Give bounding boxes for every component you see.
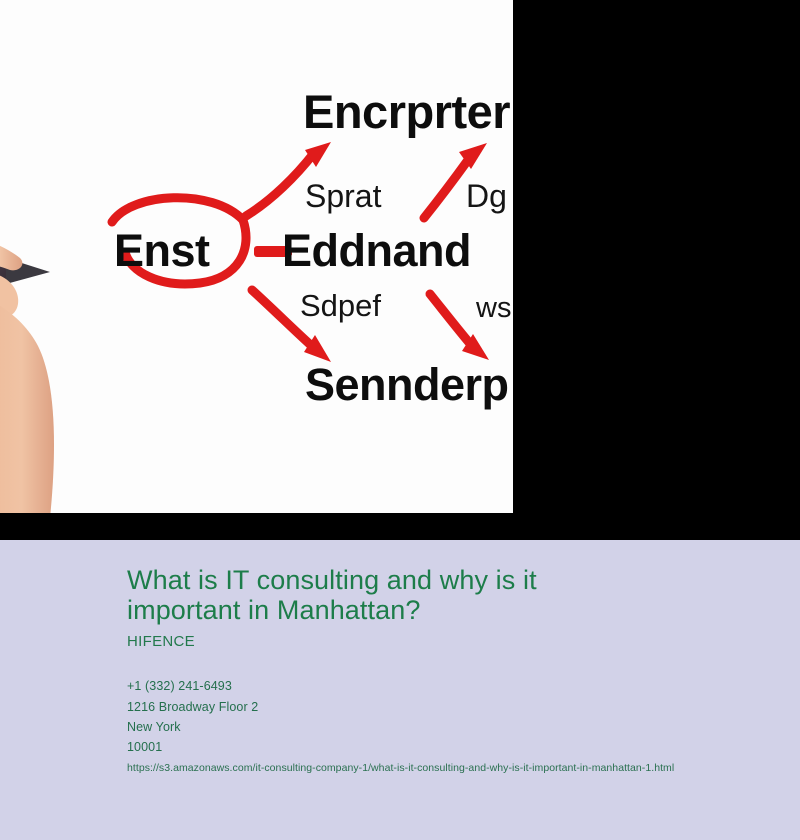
diagram-center-right-word: Eddnand bbox=[282, 228, 471, 273]
index-finger bbox=[0, 234, 22, 270]
contact-block: +1 (332) 241-6493 1216 Broadway Floor 2 … bbox=[127, 676, 800, 774]
hand-with-marker-icon bbox=[0, 228, 104, 513]
diagram-small-word-3: Sdpef bbox=[300, 290, 381, 321]
source-url-link[interactable]: https://s3.amazonaws.com/it-consulting-c… bbox=[127, 762, 800, 774]
brand-label: HIFENCE bbox=[127, 633, 800, 650]
diagram-heading-word: Encrprterni bbox=[303, 88, 513, 135]
article-info-panel: What is IT consulting and why is it impo… bbox=[0, 540, 800, 840]
contact-postal-code: 10001 bbox=[127, 737, 800, 757]
diagram-bottom-word: Sennderp bbox=[305, 362, 509, 407]
contact-phone[interactable]: +1 (332) 241-6493 bbox=[127, 676, 800, 696]
whiteboard-illustration: Encrprterni Sprat Dg Enst Eddnand Sdpef … bbox=[0, 0, 513, 513]
diagram-small-word-4: ws bbox=[476, 294, 511, 323]
diagram-small-word-2: Dg bbox=[466, 180, 507, 212]
page-title: What is IT consulting and why is it impo… bbox=[127, 565, 657, 625]
hand-body bbox=[0, 287, 54, 513]
loop-stroke-top bbox=[112, 198, 243, 222]
contact-city: New York bbox=[127, 717, 800, 737]
diagram-center-left-word: Enst bbox=[114, 228, 210, 273]
contact-street: 1216 Broadway Floor 2 bbox=[127, 697, 800, 717]
hero-media-area: Encrprterni Sprat Dg Enst Eddnand Sdpef … bbox=[0, 0, 800, 540]
diagram-small-word-1: Sprat bbox=[305, 180, 381, 212]
